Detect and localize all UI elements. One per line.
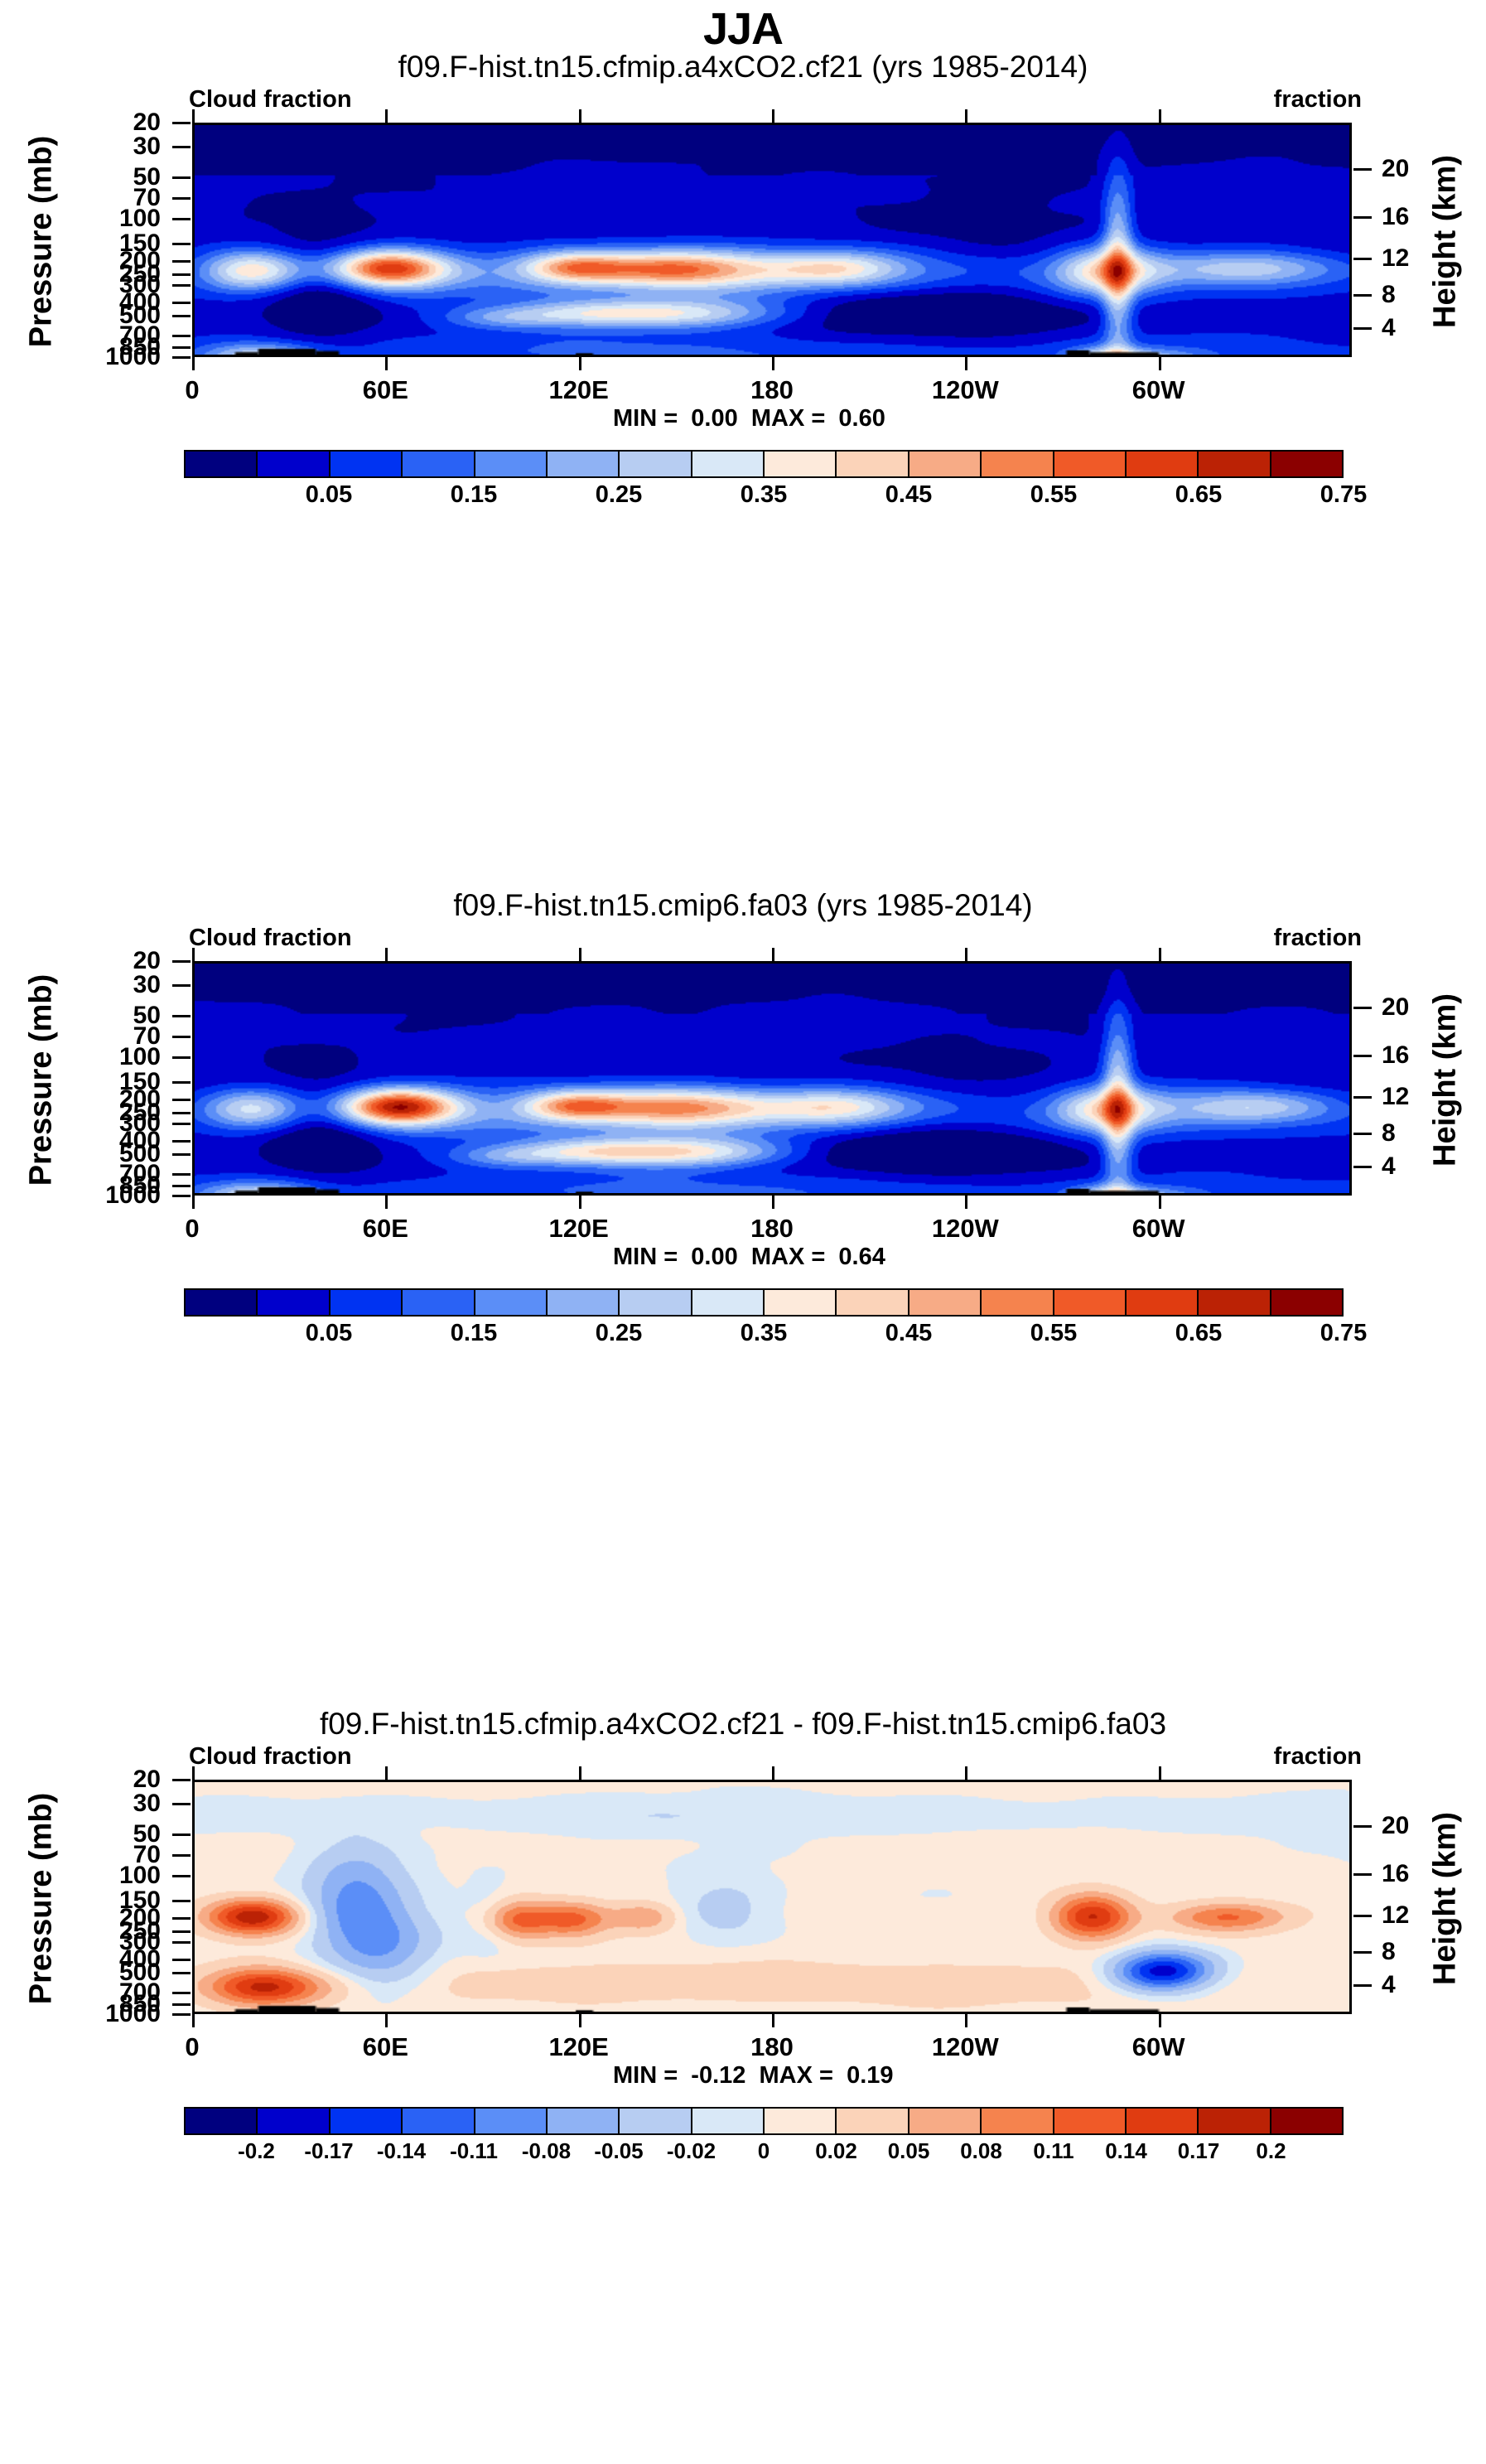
- colorbar-swatch: [1054, 2109, 1127, 2133]
- colorbar-tick-label: 0.25: [596, 481, 642, 509]
- colorbar-swatch: [1271, 1290, 1342, 1315]
- x-axis-tick-label: 120W: [932, 1214, 999, 1244]
- x-axis-top-tick: [1159, 1766, 1161, 1780]
- x-axis-tick-label: 180: [750, 375, 794, 405]
- height-tick: [1353, 1984, 1372, 1987]
- pressure-tick: [172, 984, 191, 987]
- min-label: MIN =: [613, 405, 678, 432]
- pressure-tick: [172, 356, 191, 359]
- max-value: 0.64: [838, 1244, 885, 1270]
- colorbar-swatch: [765, 2109, 837, 2133]
- plot-panel-3: f09.F-hist.tn15.cfmip.a4xCO2.cf21 - f09.…: [0, 1707, 1486, 2452]
- pressure-tick: [172, 218, 191, 220]
- pressure-tick: [172, 1099, 191, 1101]
- min-max-annotation: MIN = -0.12 MAX = 0.19: [613, 2062, 894, 2090]
- height-tick-label: 4: [1382, 1152, 1396, 1181]
- variable-label: Cloud fraction: [189, 1743, 352, 1771]
- x-axis-top-tick: [385, 948, 388, 961]
- colorbar-tick-label: -0.05: [594, 2138, 643, 2164]
- pressure-tick: [172, 284, 191, 287]
- x-axis-tick: [965, 1196, 967, 1209]
- contour-plot-area[interactable]: [192, 123, 1352, 357]
- colorbar-tick-label: 0.05: [888, 2138, 930, 2164]
- colorbar-swatch: [475, 1290, 548, 1315]
- colorbar-swatch: [1127, 2109, 1199, 2133]
- pressure-tick-label: 1000: [105, 2000, 161, 2028]
- height-tick: [1353, 168, 1372, 171]
- pressure-tick: [172, 346, 191, 349]
- x-axis-tick-label: 60E: [363, 375, 408, 405]
- colorbar-swatch: [1199, 452, 1271, 476]
- min-value: 0.00: [691, 1244, 737, 1270]
- pressure-tick: [172, 1959, 191, 1961]
- pressure-tick: [172, 1779, 191, 1781]
- colorbar-tick-label: -0.2: [238, 2138, 275, 2164]
- colorbar: 0.050.150.250.350.450.550.650.75: [184, 450, 1344, 511]
- y-axis-title-left: Pressure (mb): [24, 955, 60, 1204]
- colorbar-swatch: [1199, 1290, 1271, 1315]
- x-axis-tick: [579, 357, 581, 370]
- pressure-tick: [172, 1015, 191, 1017]
- pressure-tick-label: 30: [133, 1790, 161, 1818]
- colorbar-swatch: [548, 452, 620, 476]
- x-axis-tick-label: 0: [185, 375, 199, 405]
- x-axis-tick-label: 0: [185, 2032, 199, 2062]
- colorbar-swatch: [330, 2109, 403, 2133]
- pressure-tick: [172, 1056, 191, 1059]
- colorbar-swatch: [1127, 1290, 1199, 1315]
- colorbar-tick-label: 0.05: [306, 1320, 352, 1347]
- x-axis-tick-label: 120E: [548, 375, 608, 405]
- units-label: fraction: [1274, 86, 1362, 114]
- colorbar-tick-label: -0.11: [450, 2138, 498, 2164]
- max-value: 0.19: [847, 2062, 893, 2089]
- pressure-tick: [172, 1992, 191, 1994]
- min-max-annotation: MIN = 0.00 MAX = 0.64: [613, 1244, 885, 1271]
- x-axis-top-tick: [1159, 109, 1161, 123]
- colorbar-tick-label: 0.05: [306, 481, 352, 509]
- y-axis-title-right: Height (km): [1428, 1774, 1464, 2022]
- height-tick-label: 12: [1382, 244, 1409, 273]
- pressure-tick: [172, 960, 191, 963]
- min-max-annotation: MIN = 0.00 MAX = 0.60: [613, 405, 885, 432]
- colorbar-tick-label: 0.65: [1175, 481, 1222, 509]
- variable-label: Cloud fraction: [189, 925, 352, 952]
- x-axis-tick-label: 0: [185, 1214, 199, 1244]
- min-value: -0.12: [691, 2062, 745, 2089]
- height-tick-label: 20: [1382, 155, 1409, 183]
- pressure-tick: [172, 273, 191, 276]
- units-label: fraction: [1274, 925, 1362, 952]
- colorbar: -0.2-0.17-0.14-0.11-0.08-0.05-0.0200.020…: [184, 2107, 1344, 2168]
- colorbar-swatch: [1271, 2109, 1342, 2133]
- height-tick: [1353, 1951, 1372, 1954]
- height-tick-label: 16: [1382, 203, 1409, 231]
- colorbar-tick-label: 0.25: [596, 1320, 642, 1347]
- x-axis-top-tick: [772, 109, 774, 123]
- x-axis-top-tick: [1159, 948, 1161, 961]
- colorbar-swatch: [837, 1290, 909, 1315]
- height-tick: [1353, 294, 1372, 297]
- colorbar-tick-label: 0.75: [1320, 481, 1367, 509]
- colorbar-tick-label: -0.14: [377, 2138, 426, 2164]
- height-tick-label: 16: [1382, 1041, 1409, 1070]
- colorbar-swatch: [403, 2109, 475, 2133]
- pressure-tick: [172, 1140, 191, 1143]
- x-axis-tick: [965, 357, 967, 370]
- pressure-tick: [172, 197, 191, 200]
- x-axis-tick: [192, 1196, 195, 1209]
- colorbar-swatch: [692, 2109, 765, 2133]
- pressure-tick: [172, 1153, 191, 1156]
- min-label: MIN =: [613, 1244, 678, 1270]
- colorbar-tick-label: 0.17: [1178, 2138, 1220, 2164]
- colorbar-tick-label: 0.02: [815, 2138, 857, 2164]
- panel-title: f09.F-hist.tn15.cfmip.a4xCO2.cf21 (yrs 1…: [0, 50, 1486, 85]
- pressure-tick: [172, 146, 191, 148]
- colorbar-tick-label: 0.15: [451, 1320, 497, 1347]
- colorbar-swatch: [620, 2109, 692, 2133]
- colorbar-tick-labels: -0.2-0.17-0.14-0.11-0.08-0.05-0.0200.020…: [184, 2135, 1344, 2168]
- x-axis-top-tick: [192, 948, 195, 961]
- x-axis-top-tick: [772, 948, 774, 961]
- x-axis-tick-label: 60W: [1132, 2032, 1185, 2062]
- x-axis-tick: [385, 1196, 388, 1209]
- x-axis-top-tick: [579, 1766, 581, 1780]
- x-axis-top-tick: [772, 1766, 774, 1780]
- colorbar-tick-label: 0.2: [1256, 2138, 1286, 2164]
- pressure-tick: [172, 1972, 191, 1974]
- colorbar-swatch: [475, 452, 548, 476]
- height-tick-label: 8: [1382, 1938, 1396, 1966]
- colorbar-swatch: [548, 1290, 620, 1315]
- x-axis-tick: [1159, 2014, 1161, 2027]
- x-axis-tick: [192, 2014, 195, 2027]
- max-label: MAX =: [760, 2062, 833, 2089]
- colorbar-swatch: [909, 1290, 982, 1315]
- colorbar-swatches: [184, 450, 1344, 478]
- y-axis-title-left: Pressure (mb): [24, 1774, 60, 2022]
- colorbar-tick-label: 0.14: [1105, 2138, 1147, 2164]
- height-tick-label: 20: [1382, 993, 1409, 1022]
- x-axis-tick: [192, 357, 195, 370]
- pressure-tick: [172, 1036, 191, 1038]
- pressure-tick: [172, 1941, 191, 1944]
- colorbar-swatch: [620, 1290, 692, 1315]
- panel-title: f09.F-hist.tn15.cmip6.fa03 (yrs 1985-201…: [0, 888, 1486, 923]
- x-axis-tick: [579, 1196, 581, 1209]
- pressure-tick: [172, 243, 191, 245]
- pressure-tick: [172, 122, 191, 124]
- x-axis-tick: [772, 357, 774, 370]
- colorbar-swatch: [620, 452, 692, 476]
- colorbar-swatch: [1054, 1290, 1127, 1315]
- pressure-tick: [172, 1900, 191, 1902]
- x-axis-tick: [965, 2014, 967, 2027]
- contour-field: [195, 964, 1349, 1193]
- panel-title: f09.F-hist.tn15.cfmip.a4xCO2.cf21 - f09.…: [0, 1707, 1486, 1742]
- pressure-tick: [172, 260, 191, 263]
- height-tick: [1353, 1873, 1372, 1876]
- height-tick-label: 12: [1382, 1901, 1409, 1930]
- x-axis-top-tick: [192, 1766, 195, 1780]
- y-axis-title-right: Height (km): [1428, 117, 1464, 365]
- x-axis-tick-label: 120W: [932, 2032, 999, 2062]
- colorbar-tick-label: 0.11: [1033, 2138, 1073, 2164]
- colorbar-swatch: [186, 1290, 258, 1315]
- x-axis-tick-label: 120E: [548, 2032, 608, 2062]
- max-label: MAX =: [751, 405, 825, 432]
- colorbar-swatch: [475, 2109, 548, 2133]
- pressure-tick: [172, 315, 191, 317]
- max-label: MAX =: [751, 1244, 825, 1270]
- y-axis-title-left: Pressure (mb): [24, 117, 60, 365]
- pressure-tick-label: 30: [133, 971, 161, 999]
- colorbar-tick-label: 0.65: [1175, 1320, 1222, 1347]
- height-tick-label: 8: [1382, 281, 1396, 309]
- colorbar-swatches: [184, 1288, 1344, 1317]
- x-axis-tick-label: 120E: [548, 1214, 608, 1244]
- x-axis-tick: [579, 2014, 581, 2027]
- height-tick: [1353, 1096, 1372, 1099]
- units-label: fraction: [1274, 1743, 1362, 1771]
- pressure-tick: [172, 1875, 191, 1877]
- colorbar-swatch: [186, 2109, 258, 2133]
- height-tick-label: 4: [1382, 1971, 1396, 1999]
- colorbar-swatch: [186, 452, 258, 476]
- pressure-tick: [172, 1834, 191, 1836]
- colorbar-swatches: [184, 2107, 1344, 2135]
- pressure-tick: [172, 1185, 191, 1187]
- colorbar-tick-label: -0.08: [522, 2138, 571, 2164]
- x-axis-tick-label: 120W: [932, 375, 999, 405]
- pressure-tick: [172, 1917, 191, 1920]
- height-tick: [1353, 258, 1372, 260]
- colorbar-tick-label: 0.45: [885, 1320, 932, 1347]
- colorbar-tick-labels: 0.050.150.250.350.450.550.650.75: [184, 1317, 1344, 1350]
- x-axis-tick: [1159, 1196, 1161, 1209]
- colorbar-swatch: [1199, 2109, 1271, 2133]
- x-axis-top-tick: [385, 109, 388, 123]
- x-axis-tick: [772, 2014, 774, 2027]
- contour-field: [195, 1782, 1349, 2012]
- height-tick: [1353, 1825, 1372, 1828]
- x-axis-top-tick: [385, 1766, 388, 1780]
- page-title: JJA: [0, 3, 1486, 55]
- min-label: MIN =: [613, 2062, 678, 2089]
- colorbar-swatch: [1127, 452, 1199, 476]
- colorbar-swatch: [982, 2109, 1054, 2133]
- pressure-tick: [172, 176, 191, 179]
- x-axis-tick: [385, 2014, 388, 2027]
- colorbar-swatch: [403, 1290, 475, 1315]
- height-axis: 20161284: [1352, 1780, 1486, 2014]
- colorbar-swatch: [258, 2109, 330, 2133]
- height-axis: 20161284: [1352, 961, 1486, 1196]
- x-axis-tick-label: 60E: [363, 1214, 408, 1244]
- height-tick-label: 8: [1382, 1119, 1396, 1147]
- contour-plot-area[interactable]: [192, 961, 1352, 1196]
- height-tick: [1353, 216, 1372, 219]
- colorbar-swatch: [403, 452, 475, 476]
- max-value: 0.60: [838, 405, 885, 432]
- height-tick: [1353, 1055, 1372, 1057]
- pressure-tick: [172, 302, 191, 304]
- colorbar-swatch: [837, 2109, 909, 2133]
- y-axis-title-right: Height (km): [1428, 955, 1464, 1204]
- x-axis-top-tick: [192, 109, 195, 123]
- pressure-tick: [172, 1195, 191, 1197]
- height-tick: [1353, 1166, 1372, 1168]
- height-tick-label: 16: [1382, 1860, 1409, 1888]
- colorbar-swatch: [909, 2109, 982, 2133]
- contour-plot-area[interactable]: [192, 1780, 1352, 2014]
- colorbar-tick-label: 0: [758, 2138, 770, 2164]
- pressure-tick-label: 1000: [105, 343, 161, 371]
- pressure-tick-label: 30: [133, 133, 161, 161]
- x-axis-top-tick: [579, 109, 581, 123]
- x-axis-top-tick: [965, 948, 967, 961]
- height-tick: [1353, 1007, 1372, 1009]
- pressure-tick: [172, 1854, 191, 1857]
- x-axis-tick-label: 180: [750, 1214, 794, 1244]
- colorbar-tick-label: 0.35: [741, 1320, 787, 1347]
- height-tick: [1353, 1915, 1372, 1917]
- x-axis-tick-label: 60W: [1132, 1214, 1185, 1244]
- colorbar-tick-label: 0.45: [885, 481, 932, 509]
- colorbar-tick-label: 0.08: [960, 2138, 1002, 2164]
- colorbar-tick-label: 0.75: [1320, 1320, 1367, 1347]
- min-value: 0.00: [691, 405, 737, 432]
- colorbar-tick-label: -0.02: [667, 2138, 716, 2164]
- colorbar-tick-label: 0.55: [1030, 1320, 1077, 1347]
- pressure-tick: [172, 1930, 191, 1933]
- plot-panel-1: f09.F-hist.tn15.cfmip.a4xCO2.cf21 (yrs 1…: [0, 50, 1486, 795]
- colorbar-swatch: [692, 1290, 765, 1315]
- pressure-tick: [172, 1123, 191, 1125]
- contour-field: [195, 125, 1349, 355]
- colorbar-swatch: [692, 452, 765, 476]
- colorbar-swatch: [909, 452, 982, 476]
- colorbar-swatch: [330, 452, 403, 476]
- pressure-tick: [172, 335, 191, 337]
- colorbar-swatch: [837, 452, 909, 476]
- colorbar-swatch: [258, 452, 330, 476]
- variable-label: Cloud fraction: [189, 86, 352, 114]
- x-axis-tick-label: 180: [750, 2032, 794, 2062]
- colorbar-tick-label: 0.35: [741, 481, 787, 509]
- x-axis-tick-label: 60W: [1132, 375, 1185, 405]
- height-tick-label: 12: [1382, 1083, 1409, 1111]
- pressure-tick-label: 1000: [105, 1181, 161, 1210]
- colorbar-tick-label: 0.55: [1030, 481, 1077, 509]
- pressure-tick: [172, 1173, 191, 1176]
- colorbar-tick-label: -0.17: [304, 2138, 353, 2164]
- colorbar-swatch: [765, 1290, 837, 1315]
- colorbar-swatch: [765, 452, 837, 476]
- x-axis-top-tick: [579, 948, 581, 961]
- pressure-tick: [172, 2003, 191, 2006]
- plot-panel-2: f09.F-hist.tn15.cmip6.fa03 (yrs 1985-201…: [0, 888, 1486, 1634]
- colorbar-swatch: [1271, 452, 1342, 476]
- height-tick-label: 20: [1382, 1812, 1409, 1840]
- pressure-tick: [172, 2013, 191, 2016]
- x-axis-tick: [772, 1196, 774, 1209]
- colorbar-tick-label: 0.15: [451, 481, 497, 509]
- colorbar-swatch: [258, 1290, 330, 1315]
- colorbar-swatch: [548, 2109, 620, 2133]
- pressure-tick: [172, 1803, 191, 1805]
- pressure-tick: [172, 1112, 191, 1114]
- colorbar-swatch: [1054, 452, 1127, 476]
- x-axis-top-tick: [965, 1766, 967, 1780]
- colorbar: 0.050.150.250.350.450.550.650.75: [184, 1288, 1344, 1350]
- pressure-tick: [172, 1081, 191, 1084]
- colorbar-swatch: [330, 1290, 403, 1315]
- colorbar-swatch: [982, 1290, 1054, 1315]
- height-axis: 20161284: [1352, 123, 1486, 357]
- height-tick: [1353, 327, 1372, 330]
- height-tick-label: 4: [1382, 314, 1396, 342]
- x-axis-tick-label: 60E: [363, 2032, 408, 2062]
- x-axis-top-tick: [965, 109, 967, 123]
- x-axis-tick: [385, 357, 388, 370]
- height-tick: [1353, 1133, 1372, 1135]
- colorbar-tick-labels: 0.050.150.250.350.450.550.650.75: [184, 478, 1344, 511]
- colorbar-swatch: [982, 452, 1054, 476]
- x-axis-tick: [1159, 357, 1161, 370]
